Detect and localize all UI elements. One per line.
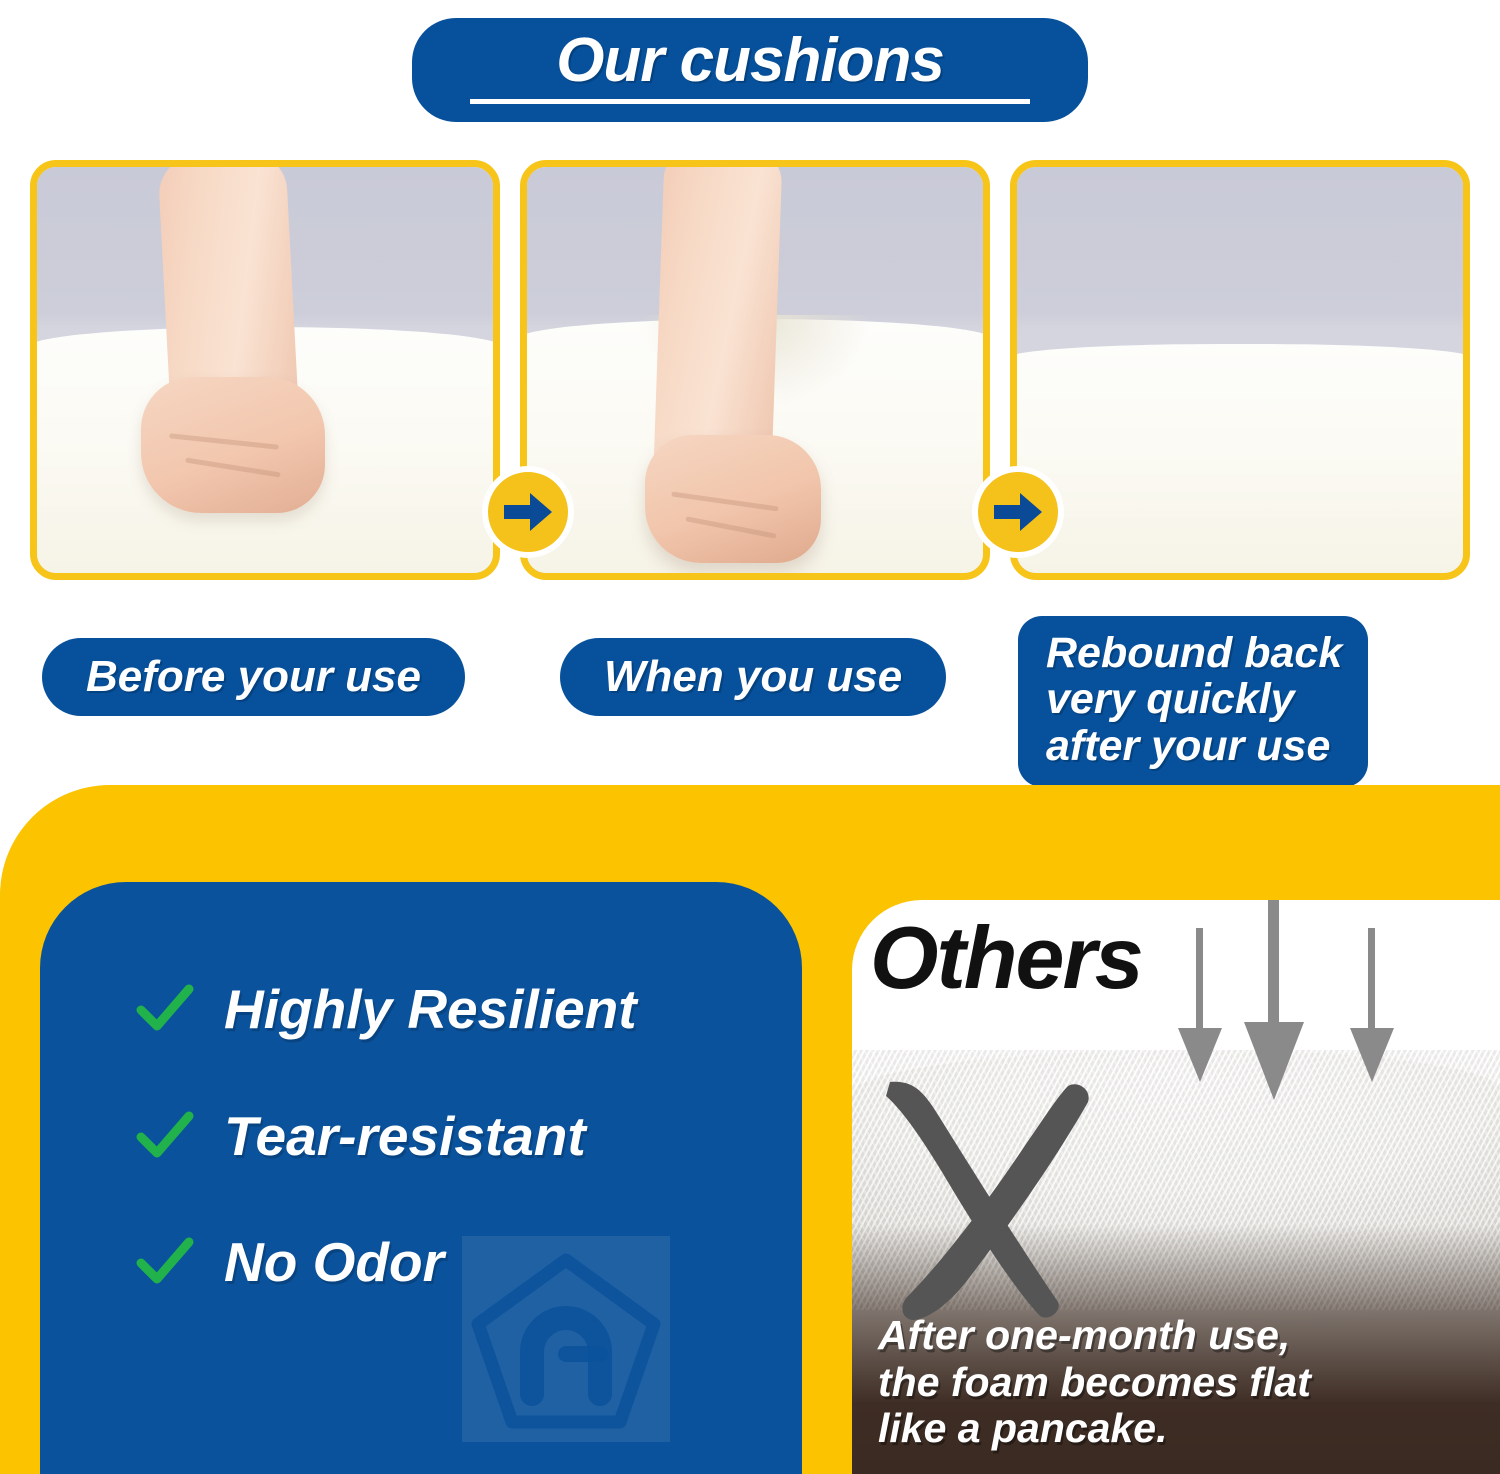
forearm — [653, 160, 782, 479]
check-icon — [136, 1110, 194, 1162]
step-label-before: Before your use — [42, 638, 465, 716]
knuckle-line — [685, 516, 776, 538]
feature-label: Highly Resilient — [224, 977, 637, 1041]
step-label-during: When you use — [560, 638, 946, 716]
knuckle-line — [671, 492, 779, 512]
infographic-page: Our cushions — [0, 0, 1500, 1474]
down-arrows-icon — [1152, 900, 1482, 1130]
photo-scene — [37, 167, 493, 573]
knuckle-line — [185, 458, 281, 478]
fist — [141, 377, 325, 513]
others-title: Others — [870, 914, 1142, 1002]
page-title-container: Our cushions — [0, 18, 1500, 122]
arrow-right-icon — [482, 466, 574, 558]
step-label-after-line3: after your use — [1046, 723, 1342, 769]
others-caption: After one-month use, the foam becomes fl… — [878, 1312, 1311, 1452]
others-caption-line3: like a pancake. — [878, 1405, 1311, 1452]
others-panel: Others After one-month use, the foam bec… — [852, 900, 1500, 1474]
feature-item: Highly Resilient — [136, 977, 637, 1041]
check-icon — [136, 983, 194, 1035]
feature-label: No Odor — [224, 1230, 444, 1294]
feature-label: Tear-resistant — [224, 1104, 586, 1168]
feature-item: Tear-resistant — [136, 1104, 586, 1168]
features-card: Highly Resilient Tear-resistant No Odor — [40, 882, 802, 1474]
page-title-pill: Our cushions — [412, 18, 1088, 122]
knuckle-line — [169, 433, 279, 449]
step-labels: Before your use When you use Rebound bac… — [0, 612, 1500, 802]
x-brush-icon — [862, 1076, 1142, 1326]
photo-scene — [527, 167, 983, 573]
pentagon-logo-watermark — [462, 1236, 670, 1442]
step-photo-after — [1010, 160, 1470, 580]
others-caption-line2: the foam becomes flat — [878, 1359, 1311, 1406]
feature-item: No Odor — [136, 1230, 444, 1294]
fist — [645, 435, 821, 563]
page-title: Our cushions — [556, 28, 944, 93]
step-photo-during — [520, 160, 990, 580]
photo-scene — [1017, 167, 1463, 573]
step-label-after: Rebound back very quickly after your use — [1018, 616, 1368, 787]
step-label-after-line2: very quickly — [1046, 676, 1342, 722]
foam-surface-recovered — [1010, 344, 1470, 579]
step-photo-before — [30, 160, 500, 580]
photo-strip — [30, 160, 1470, 580]
check-icon — [136, 1236, 194, 1288]
title-underline — [470, 99, 1030, 104]
step-label-after-line1: Rebound back — [1046, 630, 1342, 676]
arrow-right-icon — [972, 466, 1064, 558]
others-caption-line1: After one-month use, — [878, 1312, 1311, 1359]
